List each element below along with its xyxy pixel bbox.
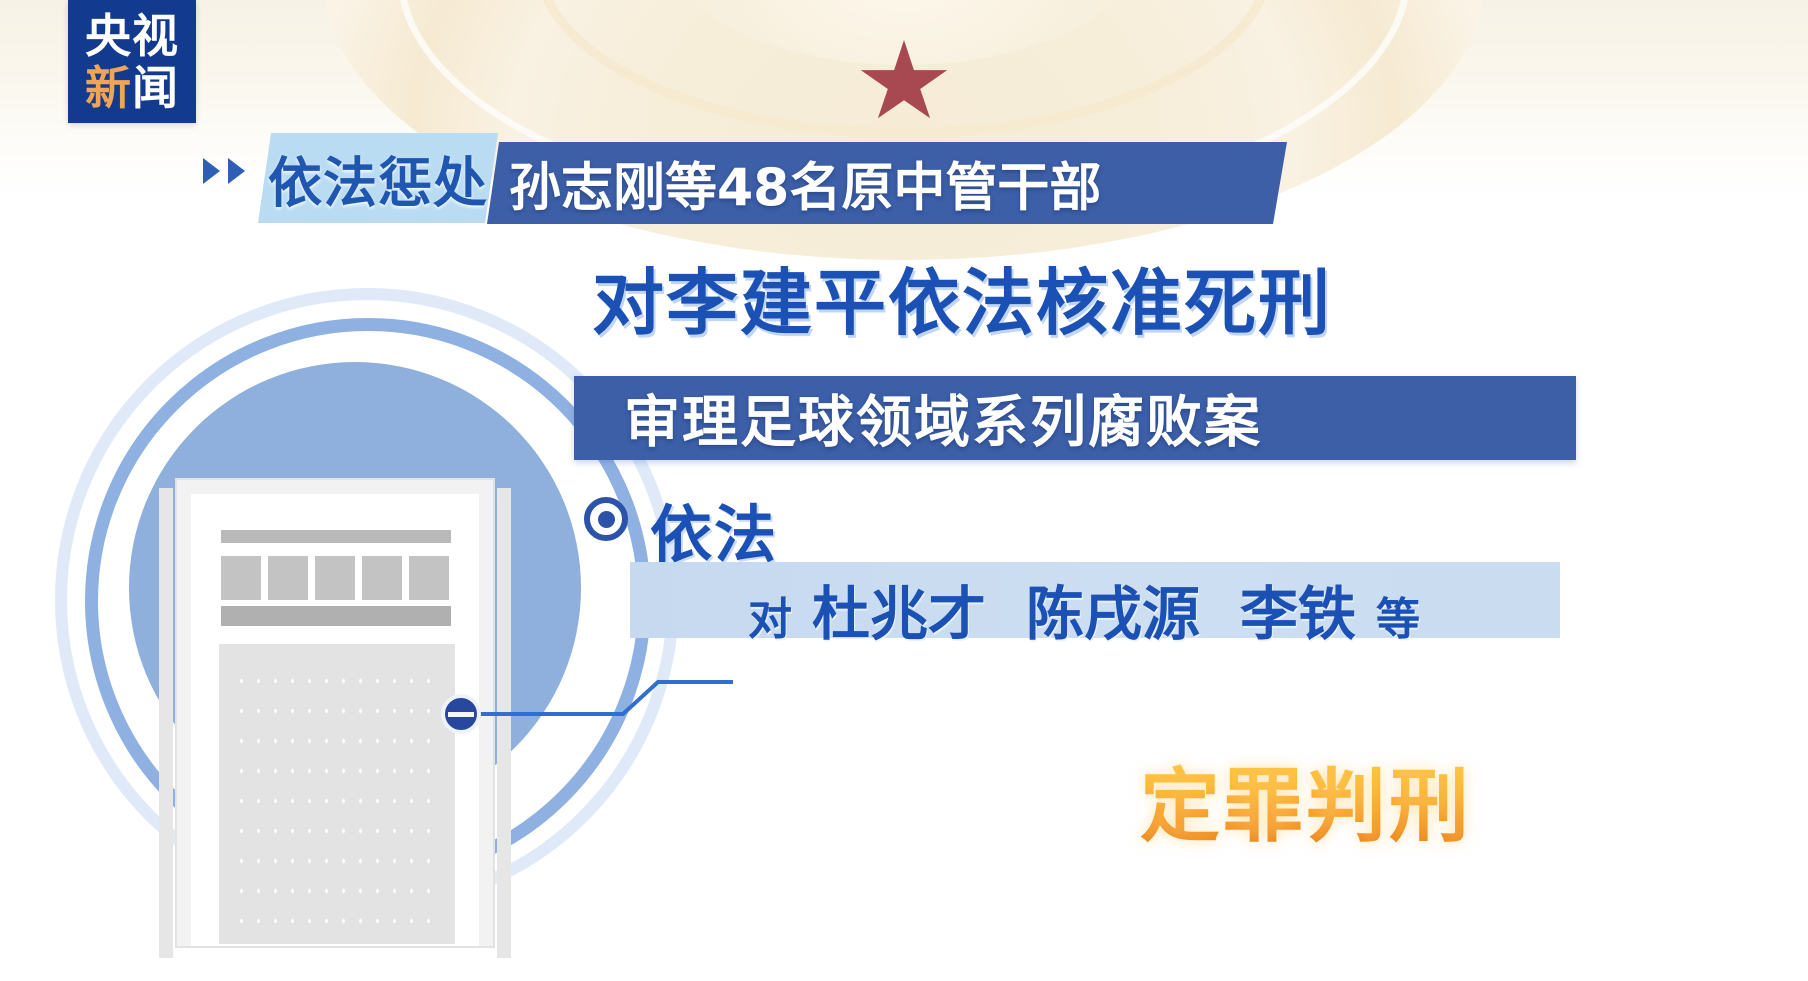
names-suffix: 等 <box>1376 583 1420 647</box>
headline-title-label: 孙志刚等48名原中管干部 <box>509 146 1101 221</box>
connector-line <box>473 668 733 788</box>
banner-band: 审理足球领域系列腐败案 <box>574 376 1576 460</box>
document-panel <box>219 644 455 944</box>
document-cell <box>221 556 261 600</box>
legal-label: 依法 <box>650 484 778 574</box>
document-cell <box>409 556 449 600</box>
red-star-icon <box>859 40 949 126</box>
logo-line-2-accent: 新 <box>85 61 132 115</box>
headline-tag-label: 依法惩处 <box>258 139 498 218</box>
document-dot-texture <box>233 666 443 936</box>
document-line <box>221 606 451 626</box>
verdict-label: 定罪判刑 <box>1140 742 1472 858</box>
subhead-line: 对李建平依法核准死刑 <box>592 244 1332 349</box>
document-page <box>191 494 479 946</box>
names-prefix: 对 <box>748 583 792 647</box>
cctv-news-logo: 央视 新闻 <box>68 0 196 123</box>
target-circle-icon <box>584 497 628 541</box>
name-item-3: 李铁 <box>1240 567 1356 651</box>
banner-label: 审理足球领域系列腐败案 <box>624 378 1262 459</box>
logo-line-1: 央视 <box>85 10 179 62</box>
name-item-2: 陈戌源 <box>1026 567 1200 651</box>
logo-line-2: 新闻 <box>85 62 179 114</box>
location-pin-dot-icon <box>441 694 481 734</box>
name-item-1: 杜兆才 <box>812 567 986 651</box>
document-side-left <box>159 488 173 958</box>
document-cell <box>315 556 355 600</box>
document-cell <box>362 556 402 600</box>
double-chevron-right-icon <box>203 158 245 184</box>
document-line <box>221 530 451 543</box>
news-graphic-stage: 央视 新闻 <box>0 0 1808 981</box>
headline-tag: 依法惩处 <box>258 133 498 223</box>
headline-title-band: 孙志刚等48名原中管干部 <box>487 142 1287 224</box>
names-list: 对 杜兆才 陈戌源 李铁 等 <box>748 567 1420 651</box>
document-cell <box>268 556 308 600</box>
document-cells <box>221 556 449 600</box>
logo-line-2-plain: 闻 <box>132 61 179 115</box>
